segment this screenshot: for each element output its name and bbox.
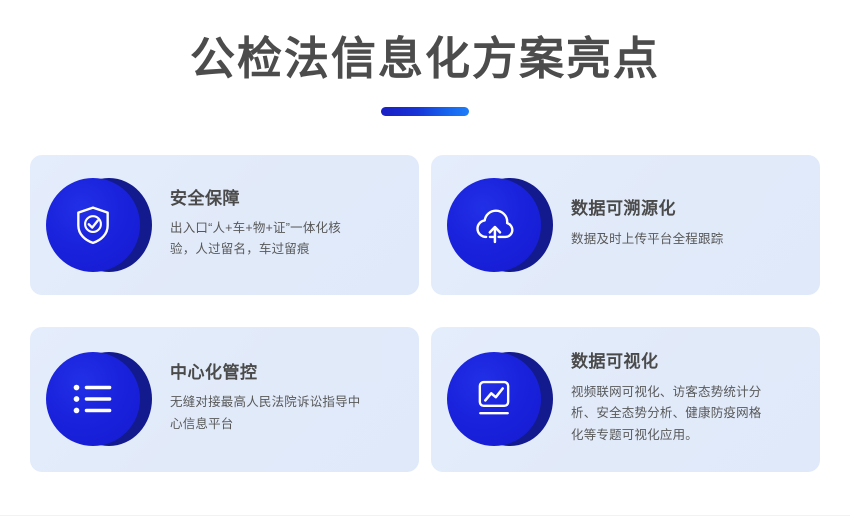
card-heading: 安全保障 [170, 189, 405, 209]
card-body: 数据及时上传平台全程跟踪 [571, 229, 801, 251]
bullet-list-icon [46, 352, 140, 446]
highlight-card-data-traceability[interactable]: 数据可溯源化 数据及时上传平台全程跟踪 [431, 155, 820, 295]
page-header: 公检法信息化方案亮点 [0, 0, 850, 116]
page-title: 公检法信息化方案亮点 [0, 33, 850, 85]
card-text-block: 安全保障 出入口“人+车+物+证”一体化核验，人过留名，车过留痕 [156, 189, 405, 261]
icon-medallion [447, 349, 557, 449]
icon-medallion [46, 175, 156, 275]
card-heading: 数据可溯源化 [571, 199, 806, 219]
highlight-card-centralized-control[interactable]: 中心化管控 无缝对接最高人民法院诉讼指导中心信息平台 [30, 327, 419, 472]
card-body: 视频联网可视化、访客态势统计分析、安全态势分析、健康防疫网格化等专题可视化应用。 [571, 382, 767, 447]
card-text-block: 数据可视化 视频联网可视化、访客态势统计分析、安全态势分析、健康防疫网格化等专题… [557, 352, 806, 446]
card-text-block: 数据可溯源化 数据及时上传平台全程跟踪 [557, 199, 806, 250]
card-heading: 数据可视化 [571, 352, 806, 372]
shield-check-icon [46, 178, 140, 272]
icon-medallion [447, 175, 557, 275]
card-heading: 中心化管控 [170, 363, 405, 383]
highlight-card-security[interactable]: 安全保障 出入口“人+车+物+证”一体化核验，人过留名，车过留痕 [30, 155, 419, 295]
title-underline-bar [381, 107, 469, 116]
highlight-card-data-visualization[interactable]: 数据可视化 视频联网可视化、访客态势统计分析、安全态势分析、健康防疫网格化等专题… [431, 327, 820, 472]
card-text-block: 中心化管控 无缝对接最高人民法院诉讼指导中心信息平台 [156, 363, 405, 435]
card-body: 无缝对接最高人民法院诉讼指导中心信息平台 [170, 392, 366, 435]
highlight-cards-grid: 安全保障 出入口“人+车+物+证”一体化核验，人过留名，车过留痕 数据可溯源化 [30, 116, 820, 472]
icon-medallion [46, 349, 156, 449]
chart-monitor-icon [447, 352, 541, 446]
cloud-upload-icon [447, 178, 541, 272]
card-body: 出入口“人+车+物+证”一体化核验，人过留名，车过留痕 [170, 218, 366, 261]
highlights-page: 公检法信息化方案亮点 安全保障 出入口“人+车+物+证”一体化核验，人过留名，车… [0, 0, 850, 516]
